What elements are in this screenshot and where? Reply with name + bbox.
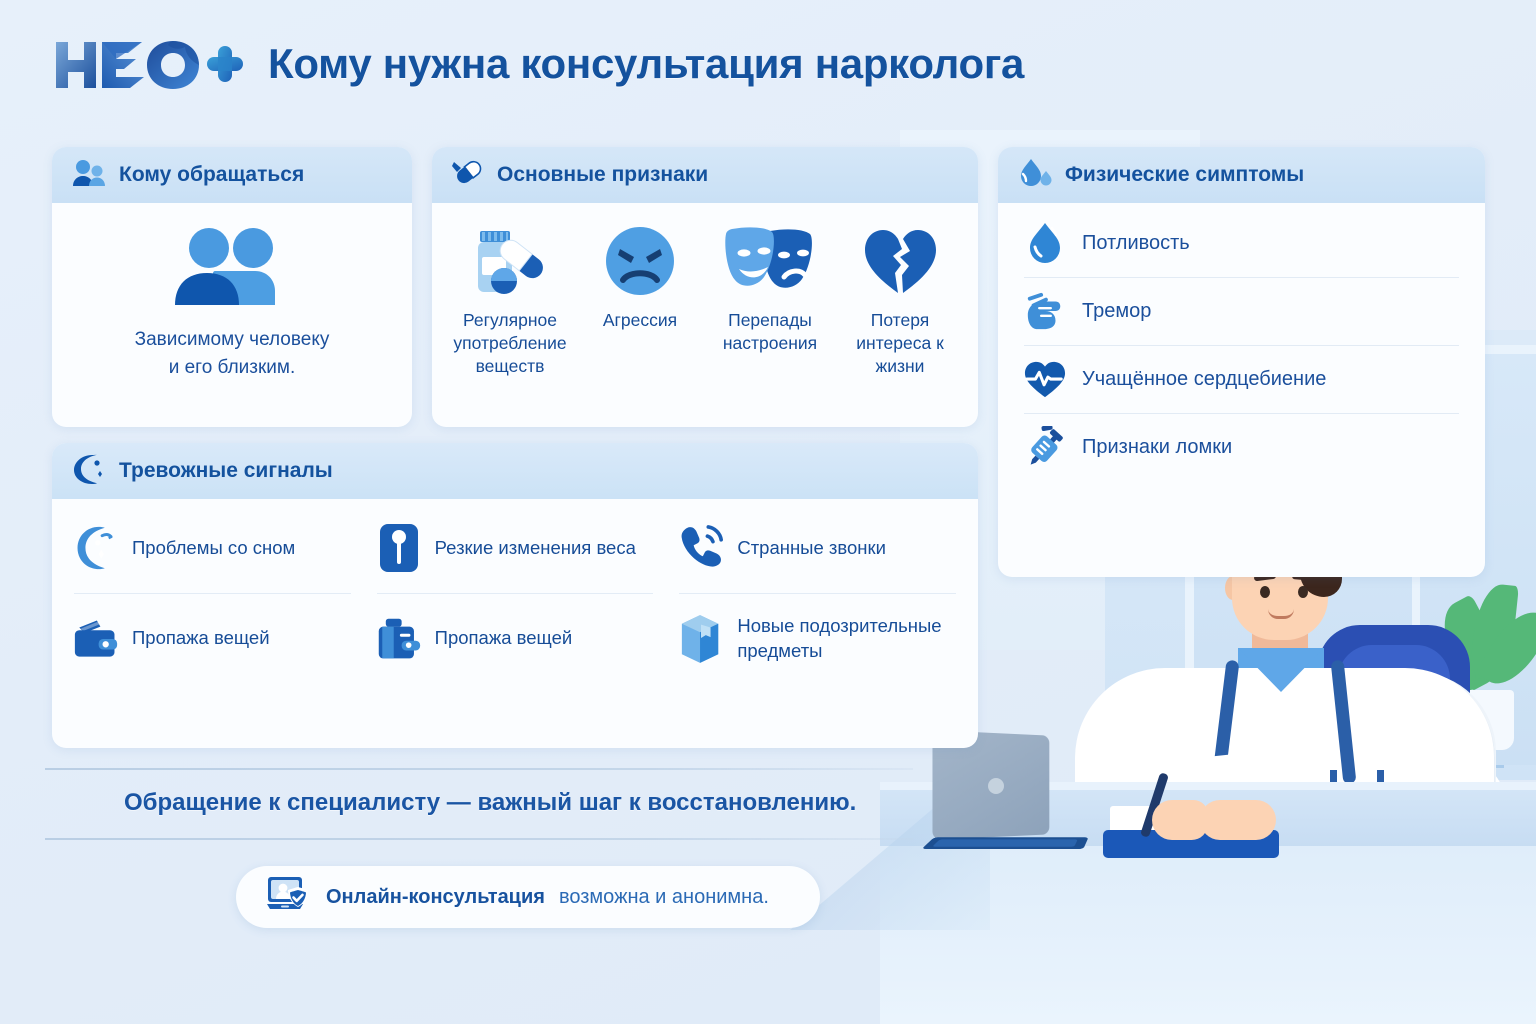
briefcase-icon [377,615,421,663]
footer-note: Обращение к специалисту — важный шаг к в… [124,789,856,817]
footer-divider-bottom [45,838,913,840]
card-signs-title: Основные признаки [497,163,708,187]
card-physical-items: Потливость Тремор [998,203,1485,481]
list-item: Новые подозрительные предметы [679,593,956,683]
trembling-hand-icon [1024,292,1066,332]
card-who-text: Зависимому человеку и его близким. [135,326,330,381]
syringe-icon [1024,426,1066,470]
weight-scale-icon [377,522,421,574]
footer-divider-top [45,768,913,770]
list-item-label: Проблемы со сном [132,536,295,560]
card-signs-items: Регулярное употребление веществ Агрессия [432,203,978,377]
angry-face-icon [604,225,676,297]
two-people-icon [169,227,295,312]
sign-item: Регулярное употребление веществ [446,225,574,377]
sign-label: Агрессия [603,309,677,332]
online-consultation-icon [266,875,312,920]
people-icon [72,159,106,192]
list-item-label: Потливость [1082,231,1190,256]
card-who-to-contact: Кому обращаться Зависимому человеку и ег… [52,147,412,427]
moon-stars-icon [74,522,118,574]
list-item: Пропажа вещей [74,593,351,683]
list-item: Проблемы со сном [74,503,351,593]
list-item-label: Пропажа вещей [132,626,270,650]
list-item: Тремор [1024,277,1459,345]
list-item-label: Резкие изменения веса [435,536,636,560]
who-text-line1: Зависимому человеку [135,326,330,354]
card-who-body: Зависимому человеку и его близким. [52,203,412,397]
heartbeat-icon [1024,360,1066,400]
logo-neo-plus [54,34,244,94]
water-drops-icon [1018,158,1052,193]
sign-label: Потеря интереса к жизни [836,309,964,377]
online-consultation-badge[interactable]: Онлайн-консультация возможна и анонимна. [236,866,820,928]
laptop-keyboard [932,839,1078,846]
sign-item: Перепады настроения [706,225,834,377]
sign-label: Перепады настроения [706,309,834,355]
list-item: Резкие изменения веса [377,503,654,593]
card-who-header: Кому обращаться [52,147,412,203]
phone-call-icon [679,523,723,573]
card-signs-header: Основные признаки [432,147,978,203]
card-physical-symptoms: Физические симптомы Потливость [998,147,1485,577]
list-item-label: Странные звонки [737,536,886,560]
list-item-label: Признаки ломки [1082,435,1232,460]
card-alerts-header: Тревожные сигналы [52,443,978,499]
droplet-icon [1024,222,1066,264]
page-title: Кому нужна консультация нарколога [268,40,1024,88]
card-alert-signals: Тревожные сигналы Проблемы со сном [52,443,978,748]
moon-icon [72,453,106,490]
broken-heart-icon [862,225,938,297]
pill-bottle-icon [472,225,548,297]
wallet-icon [74,617,118,661]
theater-masks-icon [724,225,816,297]
card-alerts-items: Проблемы со сном Резкие изменения веса [52,499,978,683]
card-physical-header: Физические симптомы [998,147,1485,203]
sign-item: Агрессия [576,225,704,377]
list-item: Учащённое сердцебиение [1024,345,1459,413]
list-item: Признаки ломки [1024,413,1459,481]
list-item-label: Тремор [1082,299,1151,324]
card-alerts-title: Тревожные сигналы [119,459,333,483]
card-who-title: Кому обращаться [119,163,304,187]
package-box-icon [679,613,723,665]
doctor-hand [1200,800,1276,840]
card-main-signs: Основные признаки Регулярное употреб [432,147,978,427]
who-text-line2: и его близким. [135,354,330,382]
list-item-label: Пропажа вещей [435,626,573,650]
list-item-label: Учащённое сердцебиение [1082,367,1326,392]
doctor-eye [1298,586,1308,598]
laptop-logo [988,778,1004,794]
sign-item: Потеря интереса к жизни [836,225,964,377]
sign-label: Регулярное употребление веществ [446,309,574,377]
list-item-label: Новые подозрительные предметы [737,614,956,662]
doctor-eye [1260,586,1270,598]
page-header: Кому нужна консультация нарколога [54,34,1024,94]
list-item: Пропажа вещей [377,593,654,683]
pills-icon [452,158,484,193]
list-item: Странные звонки [679,503,956,593]
badge-strong-text: Онлайн-консультация [326,886,545,909]
list-item: Потливость [1024,209,1459,277]
badge-light-text: возможна и анонимна. [559,886,769,909]
card-physical-title: Физические симптомы [1065,163,1304,187]
